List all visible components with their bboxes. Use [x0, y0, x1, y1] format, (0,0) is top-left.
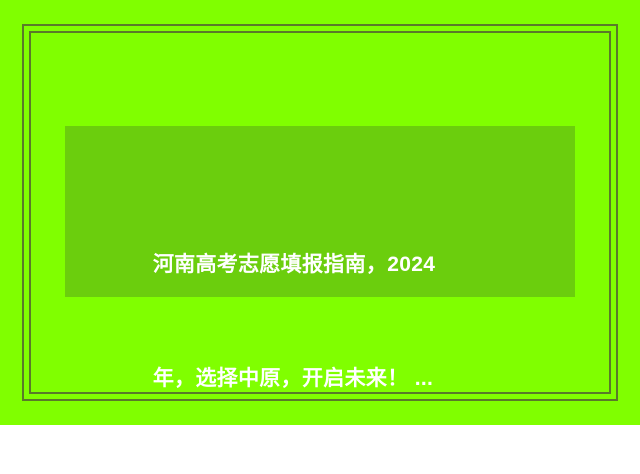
caption-band: 河南高考志愿填报指南，2024 年，选择中原，开启未来！ ... — [65, 126, 575, 297]
caption-text: 河南高考志愿填报指南，2024 年，选择中原，开启未来！ ... — [153, 170, 523, 474]
caption-line-1: 河南高考志愿填报指南，2024 — [153, 246, 523, 284]
caption-line-2: 年，选择中原，开启未来！ ... — [153, 360, 523, 398]
poster-canvas: 河南高考志愿填报指南，2024 年，选择中原，开启未来！ ... — [0, 0, 640, 425]
